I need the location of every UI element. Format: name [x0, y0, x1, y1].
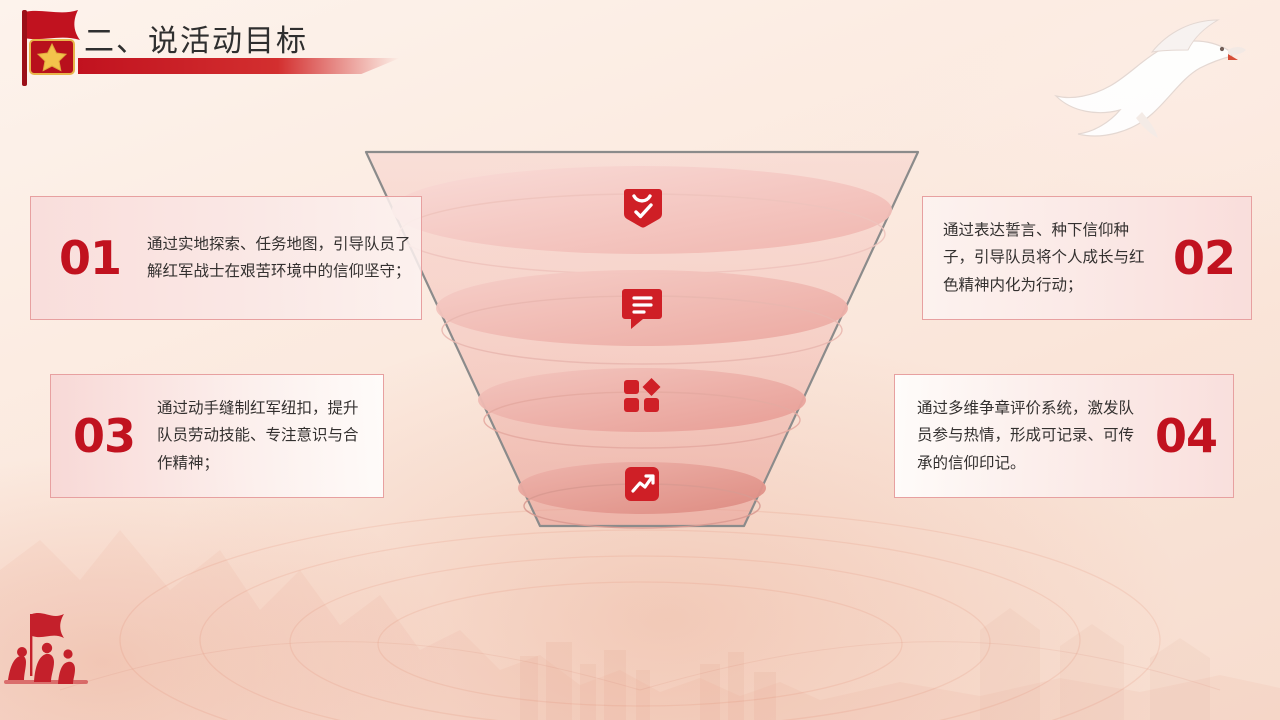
slide-root: 二、说活动目标 [0, 0, 1280, 720]
goal-card-02-number: 02 [1173, 235, 1235, 281]
goal-card-03-number: 03 [73, 413, 135, 459]
goal-card-04[interactable]: 通过多维争章评价系统，激发队员参与热情，形成可记录、可传承的信仰印记。 04 [894, 374, 1234, 498]
slide-header: 二、说活动目标 [0, 0, 480, 92]
red-star-emblem-icon [16, 6, 86, 88]
goal-card-03[interactable]: 03 通过动手缝制红军纽扣，提升队员劳动技能、专注意识与合作精神； [50, 374, 384, 498]
growth-chart-icon [625, 467, 659, 501]
goal-card-02[interactable]: 通过表达誓言、种下信仰种子，引导队员将个人成长与红色精神内化为行动； 02 [922, 196, 1252, 320]
funnel-diagram [352, 138, 932, 538]
goal-card-01-text: 通过实地探索、任务地图，引导队员了解红军战士在艰苦环境中的信仰坚守； [147, 231, 411, 285]
soldiers-with-flag-silhouette-icon [0, 602, 110, 692]
goal-card-04-text: 通过多维争章评价系统，激发队员参与热情，形成可记录、可传承的信仰印记。 [917, 395, 1139, 476]
goal-card-01[interactable]: 01 通过实地探索、任务地图，引导队员了解红军战士在艰苦环境中的信仰坚守； [30, 196, 422, 320]
page-title: 二、说活动目标 [84, 16, 308, 60]
goal-card-01-number: 01 [59, 235, 121, 281]
white-dove-icon [1032, 4, 1252, 154]
header-red-bar [78, 58, 400, 74]
goal-card-02-text: 通过表达誓言、种下信仰种子，引导队员将个人成长与红色精神内化为行动； [943, 217, 1157, 298]
goal-card-03-text: 通过动手缝制红军纽扣，提升队员劳动技能、专注意识与合作精神； [157, 395, 373, 476]
goal-card-04-number: 04 [1155, 413, 1217, 459]
